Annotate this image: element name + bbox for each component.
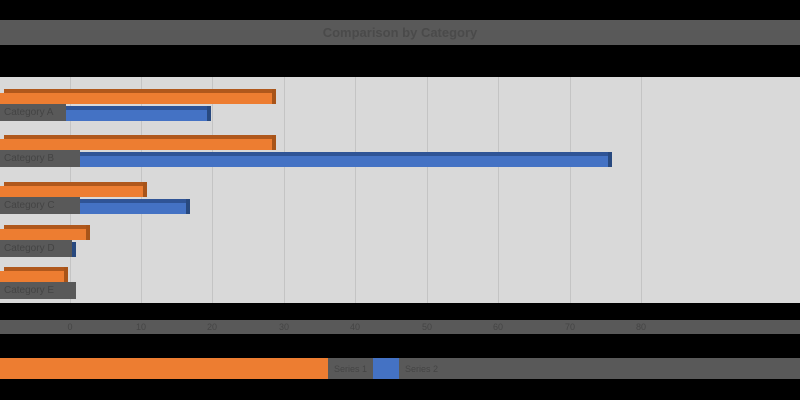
bar-face <box>0 229 86 240</box>
legend-label-series-1: Series 1 <box>328 364 373 374</box>
page-title: Comparison by Category <box>0 20 800 45</box>
x-tick-label: 30 <box>279 320 289 334</box>
x-tick-label: 40 <box>350 320 360 334</box>
grid-line <box>570 77 571 303</box>
legend-item-series-1[interactable]: Series 1 <box>328 358 373 379</box>
chart-legend: Series 1 Series 2 <box>0 358 800 379</box>
bar-end-cap <box>86 225 90 240</box>
grid-line <box>427 77 428 303</box>
bar-face <box>0 271 64 282</box>
bar-top-face <box>4 135 272 139</box>
x-axis-tick-labels: 01020304050607080 <box>0 320 800 334</box>
grid-line <box>212 77 213 303</box>
plot-area: Category ACategory BCategory CCategory D… <box>0 77 800 303</box>
bar-top-face <box>4 182 143 186</box>
chart-root: Comparison by Category Category ACategor… <box>0 0 800 400</box>
bar-series-1[interactable] <box>0 135 272 150</box>
bar-top-face <box>4 89 272 93</box>
legend-swatch-series-2 <box>373 358 399 379</box>
category-label: Category B <box>0 150 80 167</box>
bar-end-cap <box>186 199 190 214</box>
bar-series-2[interactable] <box>0 152 608 167</box>
bar-end-cap <box>72 242 76 257</box>
bar-end-cap <box>207 106 211 121</box>
x-tick-label: 50 <box>422 320 432 334</box>
legend-orange-block <box>0 358 328 379</box>
bar-end-cap <box>608 152 612 167</box>
bar-series-1[interactable] <box>0 267 64 282</box>
category-label: Category C <box>0 197 80 214</box>
x-tick-label: 70 <box>565 320 575 334</box>
x-tick-label: 20 <box>207 320 217 334</box>
bar-top-face <box>4 152 608 156</box>
grid-line <box>641 77 642 303</box>
bar-end-cap <box>143 182 147 197</box>
bar-end-cap <box>272 135 276 150</box>
category-label: Category E <box>0 282 76 299</box>
x-tick-label: 60 <box>493 320 503 334</box>
bar-top-face <box>4 225 86 229</box>
bar-top-face <box>4 267 64 271</box>
x-tick-label: 10 <box>136 320 146 334</box>
bar-series-1[interactable] <box>0 182 143 197</box>
x-tick-label: 0 <box>67 320 72 334</box>
legend-label-series-2: Series 2 <box>399 364 444 374</box>
bar-end-cap <box>272 89 276 104</box>
grid-line <box>355 77 356 303</box>
bar-series-1[interactable] <box>0 225 86 240</box>
bar-series-1[interactable] <box>0 89 272 104</box>
bar-face <box>0 139 272 150</box>
category-label: Category D <box>0 240 72 257</box>
bar-face <box>0 186 143 197</box>
bar-end-cap <box>64 267 68 282</box>
legend-filler <box>444 358 800 379</box>
x-tick-label: 80 <box>636 320 646 334</box>
bar-face <box>0 156 608 167</box>
bar-face <box>0 93 272 104</box>
grid-line <box>284 77 285 303</box>
chart-title-band: Comparison by Category <box>0 20 800 45</box>
category-label: Category A <box>0 104 66 121</box>
legend-item-series-2[interactable]: Series 2 <box>373 358 444 379</box>
grid-line <box>498 77 499 303</box>
